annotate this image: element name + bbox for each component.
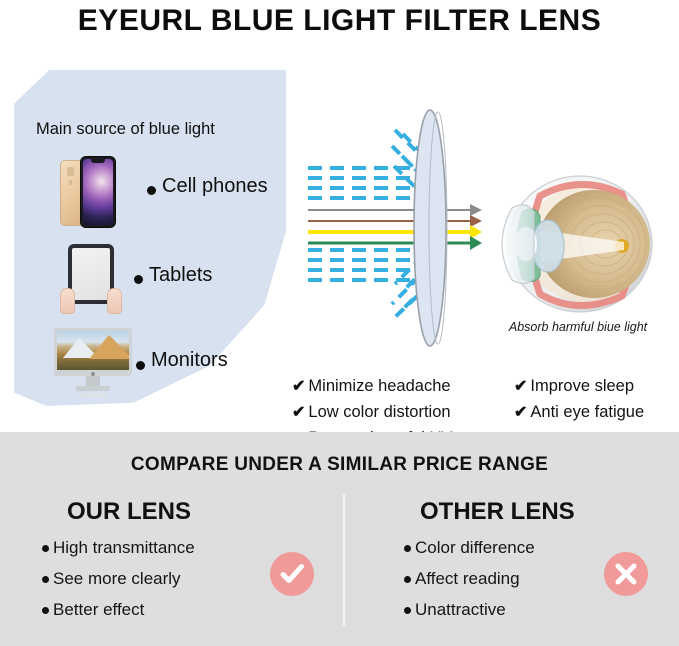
benefit-item: ✔ Low color distortion [292,402,488,422]
list-item-label: High transmittance [53,538,195,558]
benefit-item: ✔ Minimize headache [292,376,488,396]
check-icon [278,560,306,588]
list-item: See more clearly [42,569,195,589]
list-item: Affect reading [404,569,535,589]
list-item: High transmittance [42,538,195,558]
list-item-label: Color difference [415,538,535,558]
smartphone-icon [58,156,120,230]
lens-body [414,110,446,346]
eye-anatomy-illustration [482,156,672,346]
bullet-monitors [136,361,145,370]
list-item-label: Affect reading [415,569,520,589]
benefit-item: ✔ Anti eye fatigue [514,402,644,422]
benefit-label: Minimize headache [308,377,450,396]
top-illustration-section: Main source of blue light Cell phones Ta… [0,48,679,432]
bullet-cell-phones [147,186,156,195]
check-badge [270,552,314,596]
list-item-label: Unattractive [415,600,506,620]
cornea [502,205,534,284]
compare-heading: COMPARE UNDER A SIMILAR PRICE RANGE [0,454,679,476]
list-item: Color difference [404,538,535,558]
bullet-dot-icon [404,607,411,614]
source-label-tablets: Tablets [149,264,212,287]
source-label-cell-phones: Cell phones [162,175,268,198]
list-item-label: See more clearly [53,569,181,589]
our-lens-title: OUR LENS [67,498,191,526]
benefit-item: ✔ Improve sleep [514,376,644,396]
column-divider [343,494,345,626]
benefit-label: Low color distortion [308,403,450,422]
close-icon [612,560,640,588]
check-icon: ✔ [514,376,527,396]
bullet-dot-icon [42,576,49,583]
benefits-list-right: ✔ Improve sleep ✔ Anti eye fatigue [514,376,644,428]
other-lens-list: Color difference Affect reading Unattrac… [404,538,535,631]
bullet-dot-icon [42,545,49,552]
other-lens-title: OTHER LENS [420,498,575,526]
page-title: EYEURL BLUE LIGHT FILTER LENS [0,2,679,40]
benefit-label: Anti eye fatigue [530,403,644,422]
bullet-dot-icon [404,576,411,583]
blocked-blue-ray-dashes-top [308,168,420,198]
our-lens-list: High transmittance See more clearly Bett… [42,538,195,631]
check-icon: ✔ [514,402,527,422]
check-icon: ✔ [292,376,305,396]
lens-ray-diagram [290,108,485,348]
blue-source-heading: Main source of blue light [36,120,215,139]
blue-light-source-content: Main source of blue light Cell phones Ta… [14,70,286,406]
desktop-monitor-icon [54,328,132,402]
bullet-tablets [134,275,143,284]
list-item-label: Better effect [53,600,144,620]
tablet-icon [60,244,122,316]
bullet-dot-icon [42,607,49,614]
compare-section: COMPARE UNDER A SIMILAR PRICE RANGE OUR … [0,432,679,646]
check-icon: ✔ [292,402,305,422]
source-label-monitors: Monitors [151,349,228,372]
list-item: Better effect [42,600,195,620]
benefit-label: Improve sleep [530,377,634,396]
list-item: Unattractive [404,600,535,620]
eye-caption: Absorb harmful biue light [482,320,674,334]
transmitted-light-rays [308,204,482,250]
bullet-dot-icon [404,545,411,552]
cross-badge [604,552,648,596]
